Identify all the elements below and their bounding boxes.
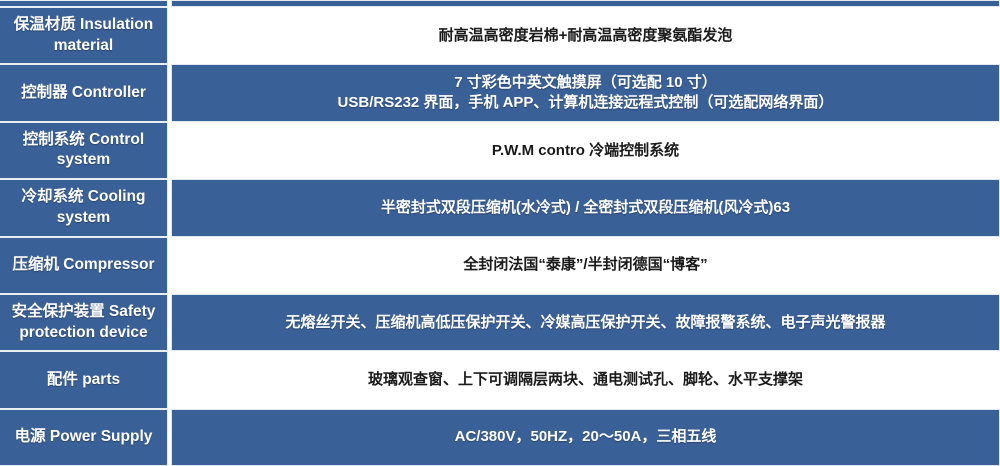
row-label-cell: 控制器 Controller — [0, 64, 168, 121]
row-value-text: P.W.M contro 冷端控制系统 — [492, 141, 679, 161]
label-line: 控制器 Controller — [21, 83, 146, 103]
label-line: 冷却系统 Cooling — [22, 187, 146, 207]
row-value-text: 耐高温高密度岩棉+耐高温高密度聚氨酯发泡 — [439, 26, 733, 46]
label-line: system — [22, 208, 146, 228]
row-label-text: 控制器 Controller — [21, 83, 146, 103]
row-label-text: 安全保护装置 Safetyprotection device — [12, 302, 156, 343]
value-line: 玻璃观查窗、上下可调隔层两块、通电测试孔、脚轮、水平支撑架 — [368, 370, 803, 390]
row-value-text: 玻璃观查窗、上下可调隔层两块、通电测试孔、脚轮、水平支撑架 — [368, 370, 803, 390]
label-line: 保温材质 Insulation — [14, 15, 154, 35]
value-line: USB/RS232 界面，手机 APP、计算机连接远程式控制（可选配网络界面） — [338, 93, 834, 113]
table-row: 控制器 Controller7 寸彩色中英文触摸屏（可选配 10 寸）USB/R… — [0, 64, 1000, 121]
row-value-cell: P.W.M contro 冷端控制系统 — [171, 122, 1000, 179]
row-label-cell: 冷却系统 Coolingsystem — [0, 179, 168, 236]
row-value-text: AC/380V，50HZ，20～50A，三相五线 — [455, 427, 717, 447]
row-label-cell: 电源 Power Supply — [0, 409, 168, 466]
value-line: 无熔丝开关、压缩机高低压保护开关、冷媒高压保护开关、故障报警系统、电子声光警报器 — [285, 313, 885, 333]
table-row: 保温材质 Insulationmaterial耐高温高密度岩棉+耐高温高密度聚氨… — [0, 7, 1000, 64]
row-value-text: 7 寸彩色中英文触摸屏（可选配 10 寸）USB/RS232 界面，手机 APP… — [338, 73, 834, 113]
value-line: P.W.M contro 冷端控制系统 — [492, 141, 679, 161]
value-line: 全封闭法国“泰康”/半封闭德国“博客” — [463, 255, 707, 275]
row-value-cell: 无熔丝开关、压缩机高低压保护开关、冷媒高压保护开关、故障报警系统、电子声光警报器 — [171, 294, 1000, 351]
row-label-text: 配件 parts — [47, 370, 120, 390]
row-label-text: 保温材质 Insulationmaterial — [14, 15, 154, 56]
table-row: 控制系统 ControlsystemP.W.M contro 冷端控制系统 — [0, 122, 1000, 179]
row-label-cell: 压缩机 Compressor — [0, 237, 168, 294]
value-line: AC/380V，50HZ，20～50A，三相五线 — [455, 427, 717, 447]
row-label-cell — [0, 0, 168, 7]
row-label-text: 冷却系统 Coolingsystem — [22, 187, 146, 228]
label-line: 配件 parts — [47, 370, 120, 390]
specification-table: 保温材质 Insulationmaterial耐高温高密度岩棉+耐高温高密度聚氨… — [0, 0, 1000, 466]
row-value-cell: 玻璃观查窗、上下可调隔层两块、通电测试孔、脚轮、水平支撑架 — [171, 351, 1000, 408]
label-line: system — [23, 150, 144, 170]
row-label-cell: 配件 parts — [0, 351, 168, 408]
row-label-cell: 保温材质 Insulationmaterial — [0, 7, 168, 64]
value-line: 半密封式双段压缩机(水冷式) / 全密封式双段压缩机(风冷式)63 — [381, 198, 790, 218]
row-value-text: 全封闭法国“泰康”/半封闭德国“博客” — [463, 255, 707, 275]
row-label-text: 控制系统 Controlsystem — [23, 130, 144, 171]
row-label-text: 压缩机 Compressor — [12, 255, 154, 275]
table-row-partial-top — [0, 0, 1000, 7]
row-value-cell: 7 寸彩色中英文触摸屏（可选配 10 寸）USB/RS232 界面，手机 APP… — [171, 64, 1000, 121]
row-label-cell: 安全保护装置 Safetyprotection device — [0, 294, 168, 351]
label-line: 安全保护装置 Safety — [12, 302, 156, 322]
row-label-cell: 控制系统 Controlsystem — [0, 122, 168, 179]
label-line: 控制系统 Control — [23, 130, 144, 150]
table-row: 压缩机 Compressor全封闭法国“泰康”/半封闭德国“博客” — [0, 237, 1000, 294]
table-row: 电源 Power SupplyAC/380V，50HZ，20～50A，三相五线 — [0, 409, 1000, 466]
label-line: protection device — [12, 323, 156, 343]
value-line: 耐高温高密度岩棉+耐高温高密度聚氨酯发泡 — [439, 26, 733, 46]
row-value-cell: 耐高温高密度岩棉+耐高温高密度聚氨酯发泡 — [171, 7, 1000, 64]
table-row: 配件 parts玻璃观查窗、上下可调隔层两块、通电测试孔、脚轮、水平支撑架 — [0, 351, 1000, 408]
row-value-cell — [171, 0, 1000, 7]
table-row: 冷却系统 Coolingsystem半密封式双段压缩机(水冷式) / 全密封式双… — [0, 179, 1000, 236]
row-value-text: 半密封式双段压缩机(水冷式) / 全密封式双段压缩机(风冷式)63 — [381, 198, 790, 218]
row-value-cell: 半密封式双段压缩机(水冷式) / 全密封式双段压缩机(风冷式)63 — [171, 179, 1000, 236]
label-line: material — [14, 36, 154, 56]
label-line: 电源 Power Supply — [15, 427, 153, 447]
row-value-cell: 全封闭法国“泰康”/半封闭德国“博客” — [171, 237, 1000, 294]
row-label-text: 电源 Power Supply — [15, 427, 153, 447]
row-value-text: 无熔丝开关、压缩机高低压保护开关、冷媒高压保护开关、故障报警系统、电子声光警报器 — [285, 313, 885, 333]
value-line: 7 寸彩色中英文触摸屏（可选配 10 寸） — [338, 73, 834, 93]
label-line: 压缩机 Compressor — [12, 255, 154, 275]
table-row: 安全保护装置 Safetyprotection device无熔丝开关、压缩机高… — [0, 294, 1000, 351]
row-value-cell: AC/380V，50HZ，20～50A，三相五线 — [171, 409, 1000, 466]
